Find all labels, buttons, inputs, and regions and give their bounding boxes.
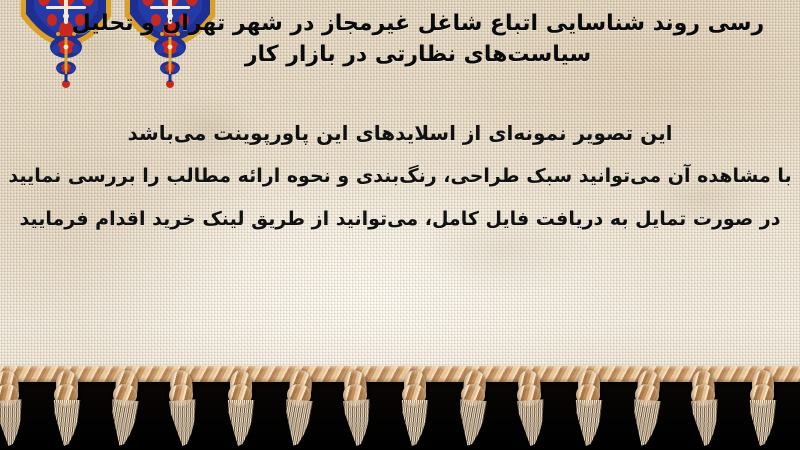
fringe-tassel: [165, 369, 200, 449]
fringe-tassel: [226, 370, 256, 448]
fringe-tassel: [339, 369, 374, 449]
fringe-tassel: [107, 369, 142, 449]
fringe-tassel: [574, 370, 604, 448]
slide-title: رسی روند شناسایی اتباع شاغل غیرمجاز در ش…: [0, 8, 800, 70]
slide-title-line-1: رسی روند شناسایی اتباع شاغل غیرمجاز در ش…: [0, 8, 800, 39]
tassel-skirt: [748, 400, 778, 446]
fringe-tassel: [629, 369, 664, 449]
slide-canvas: رسی روند شناسایی اتباع شاغل غیرمجاز در ش…: [0, 0, 800, 450]
tassel-skirt: [689, 399, 722, 447]
tassel-skirt: [400, 400, 430, 446]
fringe-tassel: [687, 369, 722, 449]
fringe-tassel: [455, 369, 490, 449]
fringe-tassel: [281, 369, 316, 449]
tassel-skirt: [52, 400, 82, 446]
tassel-skirt: [574, 400, 604, 446]
tassel-skirt: [107, 399, 140, 447]
slide-body: این تصویر نمونه‌ای از اسلایدهای این پاور…: [0, 112, 800, 241]
tassel-skirt: [341, 399, 374, 447]
body-line-3: در صورت تمایل به دریافت فایل کامل، می‌تو…: [0, 198, 800, 241]
tassel-skirt: [515, 399, 548, 447]
tassel-skirt: [167, 399, 200, 447]
body-line-1: این تصویر نمونه‌ای از اسلایدهای این پاور…: [0, 112, 800, 155]
tassel-skirt: [629, 399, 662, 447]
body-line-2: با مشاهده آن می‌توانید سبک طراحی، رنگ‌بن…: [0, 155, 800, 198]
tassel-skirt: [455, 399, 488, 447]
fringe-tassel: [513, 369, 548, 449]
tassel-skirt: [281, 399, 314, 447]
tassel-skirt: [0, 399, 27, 447]
tassel-skirt: [226, 400, 256, 446]
fringe-tassel: [52, 370, 82, 448]
fringe-tassel: [400, 370, 430, 448]
fringe-tassel: [748, 370, 778, 448]
carpet-fringe: [0, 358, 800, 450]
slide-title-line-2: سیاست‌های نظارتی در بازار کار: [0, 39, 800, 70]
